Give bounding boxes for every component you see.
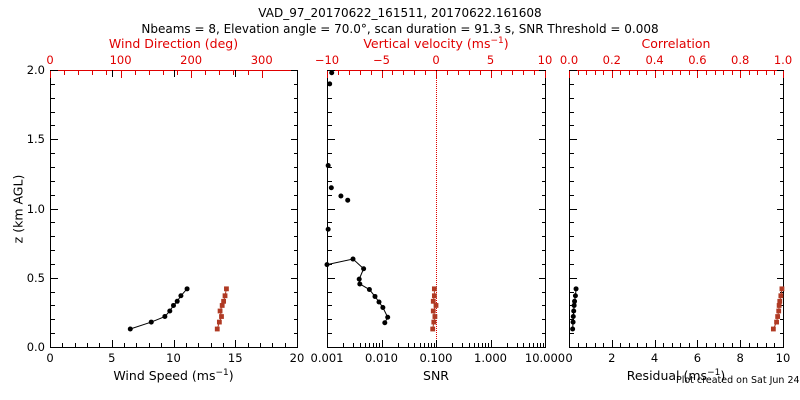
data-point	[572, 303, 577, 308]
data-point	[777, 303, 782, 308]
series-correlation	[771, 286, 784, 331]
data-point	[775, 314, 780, 319]
data-point	[776, 309, 781, 314]
data-point	[574, 286, 579, 291]
data-point	[571, 320, 576, 325]
vad-plot-figure: VAD_97_20170622_161511, 20170622.161608 …	[0, 0, 800, 400]
data-point	[777, 299, 782, 304]
panel-3-data-layer	[0, 0, 800, 400]
data-point	[570, 327, 575, 332]
data-point	[774, 320, 779, 325]
series-residual	[570, 286, 578, 331]
data-point	[571, 314, 576, 319]
data-point	[771, 327, 776, 332]
data-point	[780, 286, 785, 291]
data-point	[573, 293, 578, 298]
data-point	[571, 308, 576, 313]
data-point	[778, 293, 783, 298]
